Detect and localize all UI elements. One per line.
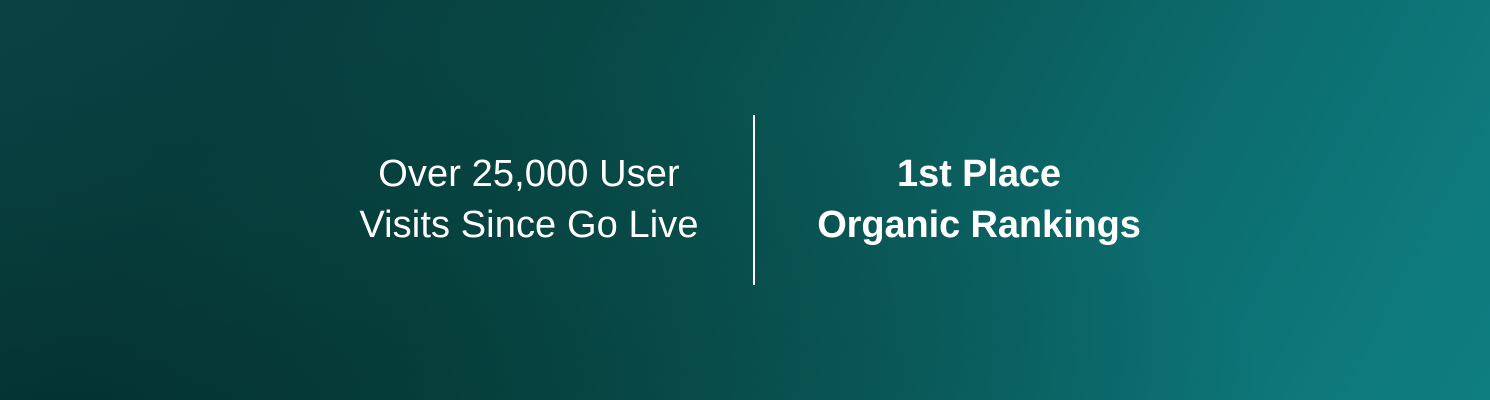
stat-organic-rankings-line-2: Organic Rankings: [789, 200, 1169, 251]
stat-user-visits: Over 25,000 User Visits Since Go Live: [339, 149, 719, 251]
stat-organic-rankings-line-1: 1st Place: [789, 149, 1169, 200]
vertical-divider: [753, 115, 755, 285]
stats-row: Over 25,000 User Visits Since Go Live 1s…: [0, 0, 1490, 400]
stat-user-visits-line-1: Over 25,000 User: [339, 149, 719, 200]
stat-organic-rankings: 1st Place Organic Rankings: [789, 149, 1169, 251]
stat-user-visits-line-2: Visits Since Go Live: [339, 200, 719, 251]
stats-banner: Over 25,000 User Visits Since Go Live 1s…: [0, 0, 1490, 400]
